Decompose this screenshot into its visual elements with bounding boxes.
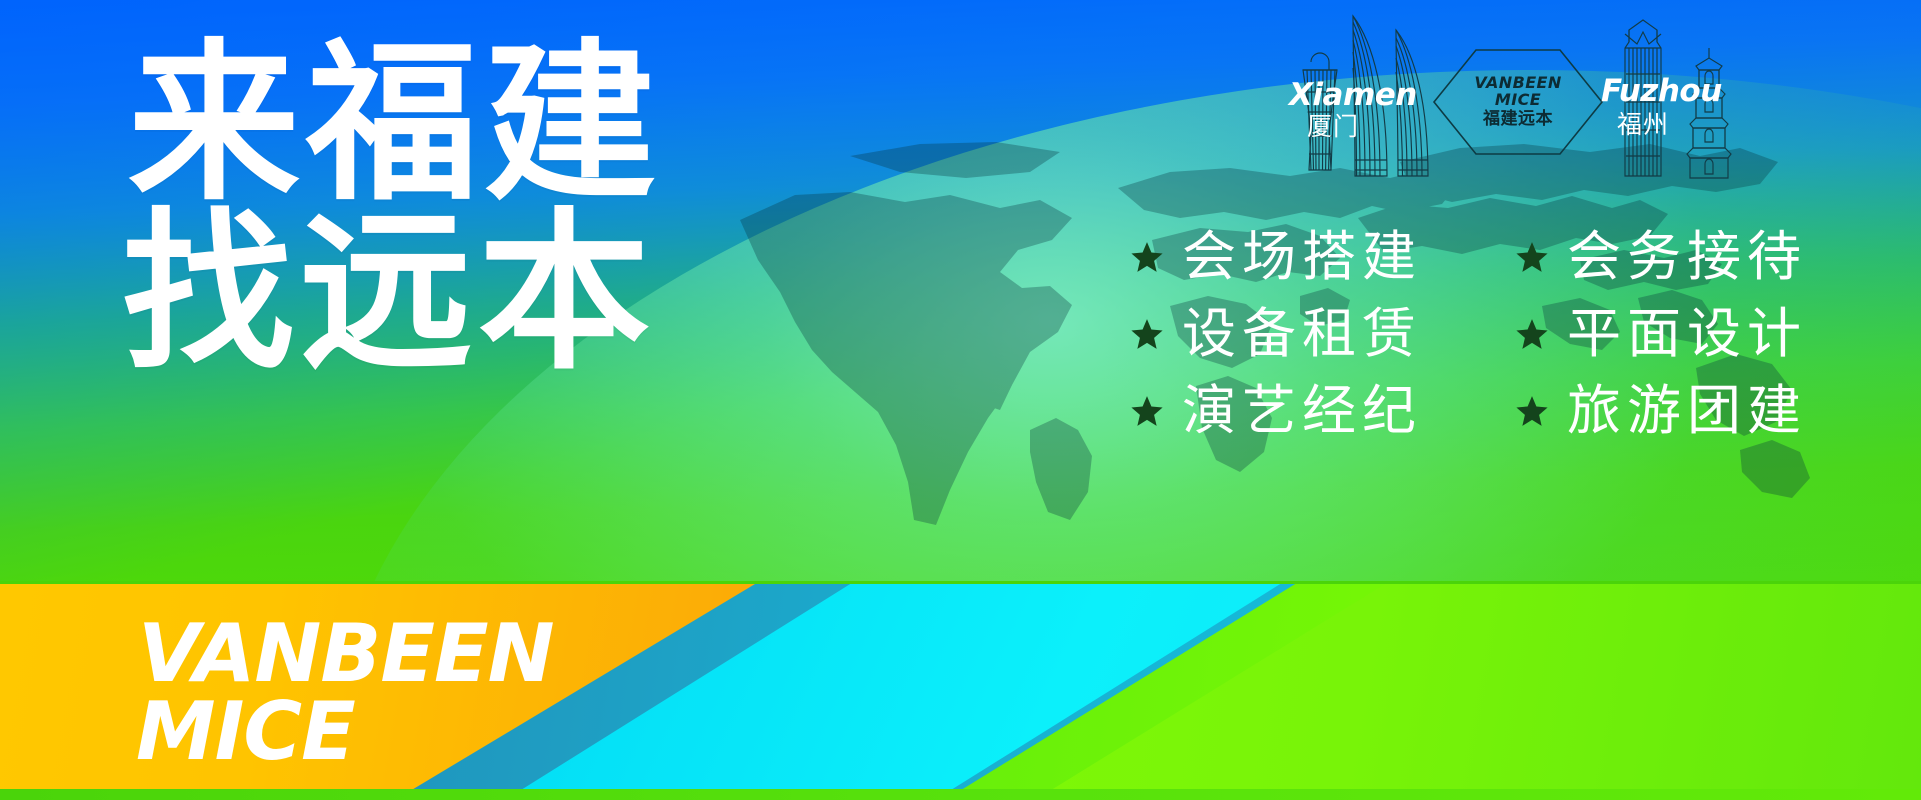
service-item-5: 旅游团建 — [1515, 384, 1900, 438]
service-item-2: 设备租赁 — [1130, 307, 1515, 361]
service-label: 演艺经纪 — [1182, 384, 1422, 438]
hex-logo-cn: 福建远本 — [1483, 110, 1553, 129]
star-icon — [1130, 394, 1164, 428]
service-label: 平面设计 — [1567, 307, 1807, 361]
brand-wordmark: VANBEEN MICE — [138, 615, 554, 772]
city-name-cn-fuzhou: 福州 — [1617, 112, 1669, 137]
fuzhou-pagoda-icon — [1679, 46, 1739, 180]
vanbeen-hex-logo: VANBEEN MICE 福建远本 — [1432, 48, 1604, 156]
star-icon — [1130, 317, 1164, 351]
service-label: 旅游团建 — [1567, 384, 1807, 438]
hex-logo-en: VANBEEN MICE — [1474, 75, 1561, 108]
star-icon — [1515, 394, 1549, 428]
footer-bottom-strip — [0, 789, 1921, 800]
brand-wordmark-line2: MICE — [136, 693, 554, 771]
city-name-fuzhou: Fuzhou — [1601, 76, 1722, 107]
service-item-4: 演艺经纪 — [1130, 384, 1515, 438]
footer-bar: VANBEEN MICE — [0, 581, 1921, 800]
service-label: 会场搭建 — [1182, 230, 1422, 284]
star-icon — [1515, 240, 1549, 274]
services-list: 会场搭建 会务接待 设备租赁 平面设计 演艺经纪 旅游团建 — [1130, 218, 1900, 449]
promo-banner: 来福建 找远本 会场搭建 会务接待 设备租赁 平面设计 演艺经纪 — [0, 0, 1921, 800]
city-logo-bar: Xiamen 厦门 VANBEEN MICE 福建远本 — [1285, 4, 1915, 184]
service-label: 设备租赁 — [1182, 307, 1422, 361]
footer-top-strip — [0, 581, 1921, 584]
city-name-cn-xiamen: 厦门 — [1307, 114, 1359, 139]
headline-line-2: 找远本 — [122, 209, 662, 378]
service-item-3: 平面设计 — [1515, 307, 1900, 361]
hex-logo-en-line2: MICE — [1495, 90, 1541, 109]
city-name-xiamen: Xiamen — [1289, 80, 1417, 111]
headline-line-1: 来福建 — [128, 40, 662, 209]
service-label: 会务接待 — [1567, 230, 1807, 284]
star-icon — [1130, 240, 1164, 274]
service-item-1: 会务接待 — [1515, 230, 1900, 284]
page-title: 来福建 找远本 — [128, 40, 662, 377]
hero-section: 来福建 找远本 会场搭建 会务接待 设备租赁 平面设计 演艺经纪 — [0, 0, 1921, 582]
service-item-0: 会场搭建 — [1130, 230, 1515, 284]
brand-wordmark-line1: VANBEEN — [138, 615, 554, 693]
star-icon — [1515, 317, 1549, 351]
